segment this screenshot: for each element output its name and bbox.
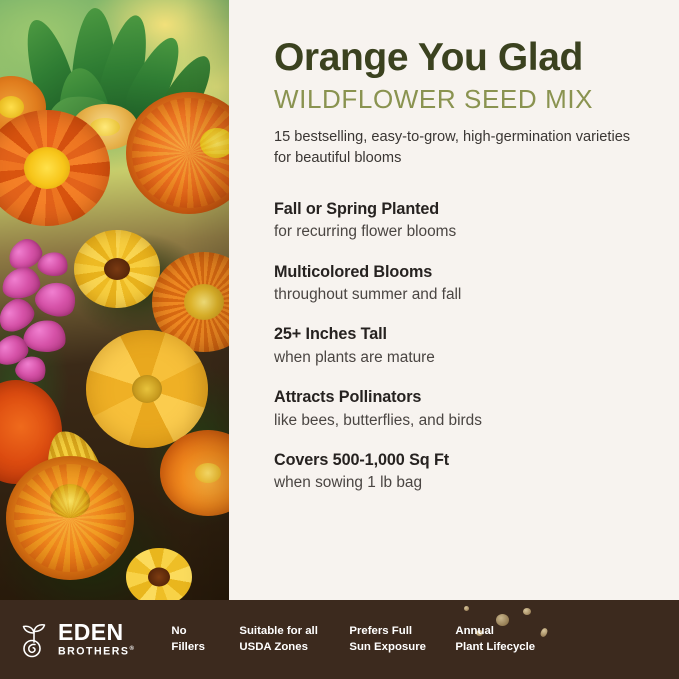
feature-title: Fall or Spring Planted — [274, 200, 661, 219]
feature-item: Attracts Pollinators like bees, butterfl… — [274, 388, 661, 430]
logo-brothers-text: BROTHERS® — [58, 646, 135, 657]
feature-title: Multicolored Blooms — [274, 263, 661, 282]
feature-description: like bees, butterflies, and birds — [274, 411, 661, 430]
attribute-line-2: USDA Zones — [239, 640, 349, 655]
attribute-line-2: Sun Exposure — [349, 640, 455, 655]
feature-item: Covers 500-1,000 Sq Ft when sowing 1 lb … — [274, 451, 661, 493]
feature-description: throughout summer and fall — [274, 285, 661, 304]
product-content-panel: Orange You Glad WILDFLOWER SEED MIX 15 b… — [229, 0, 679, 679]
feature-title: Covers 500-1,000 Sq Ft — [274, 451, 661, 470]
feature-description: for recurring flower blooms — [274, 222, 661, 241]
wildflower-bouquet-photo — [0, 0, 229, 620]
feature-description: when plants are mature — [274, 348, 661, 367]
attribute-usda-zones: Suitable for all USDA Zones — [239, 624, 349, 654]
attribute-line-2: Fillers — [171, 640, 239, 655]
product-title: Orange You Glad — [274, 38, 655, 79]
attribute-sun-exposure: Prefers Full Sun Exposure — [349, 624, 455, 654]
sprout-seedling-icon — [18, 622, 50, 658]
headline-block: Orange You Glad WILDFLOWER SEED MIX 15 b… — [274, 38, 655, 168]
eden-brothers-logo: EDEN BROTHERS® — [18, 621, 135, 657]
product-subtitle: WILDFLOWER SEED MIX — [274, 86, 655, 113]
attribute-line-1: Annual — [455, 624, 565, 639]
product-attributes: No Fillers Suitable for all USDA Zones P… — [171, 624, 565, 654]
attribute-line-1: No — [171, 624, 239, 639]
product-info-card: Orange You Glad WILDFLOWER SEED MIX 15 b… — [0, 0, 679, 679]
photo-edge-shading — [0, 0, 229, 620]
feature-list: Fall or Spring Planted for recurring flo… — [274, 200, 661, 492]
feature-title: Attracts Pollinators — [274, 388, 661, 407]
feature-title: 25+ Inches Tall — [274, 325, 661, 344]
logo-eden-text: EDEN — [58, 621, 135, 644]
attribute-no-fillers: No Fillers — [171, 624, 239, 654]
product-description: 15 bestselling, easy-to-grow, high-germi… — [274, 127, 634, 168]
attribute-line-1: Prefers Full — [349, 624, 455, 639]
feature-item: Fall or Spring Planted for recurring flo… — [274, 200, 661, 242]
logo-wordmark: EDEN BROTHERS® — [58, 621, 135, 657]
feature-item: Multicolored Blooms throughout summer an… — [274, 263, 661, 305]
brand-footer-bar: EDEN BROTHERS® No Fillers Suitable for a… — [0, 600, 679, 679]
attribute-plant-lifecycle: Annual Plant Lifecycle — [455, 624, 565, 654]
feature-item: 25+ Inches Tall when plants are mature — [274, 325, 661, 367]
trademark-symbol: ® — [129, 646, 135, 652]
attribute-line-1: Suitable for all — [239, 624, 349, 639]
attribute-line-2: Plant Lifecycle — [455, 640, 565, 655]
footer-content: EDEN BROTHERS® No Fillers Suitable for a… — [0, 600, 679, 679]
feature-description: when sowing 1 lb bag — [274, 473, 661, 492]
